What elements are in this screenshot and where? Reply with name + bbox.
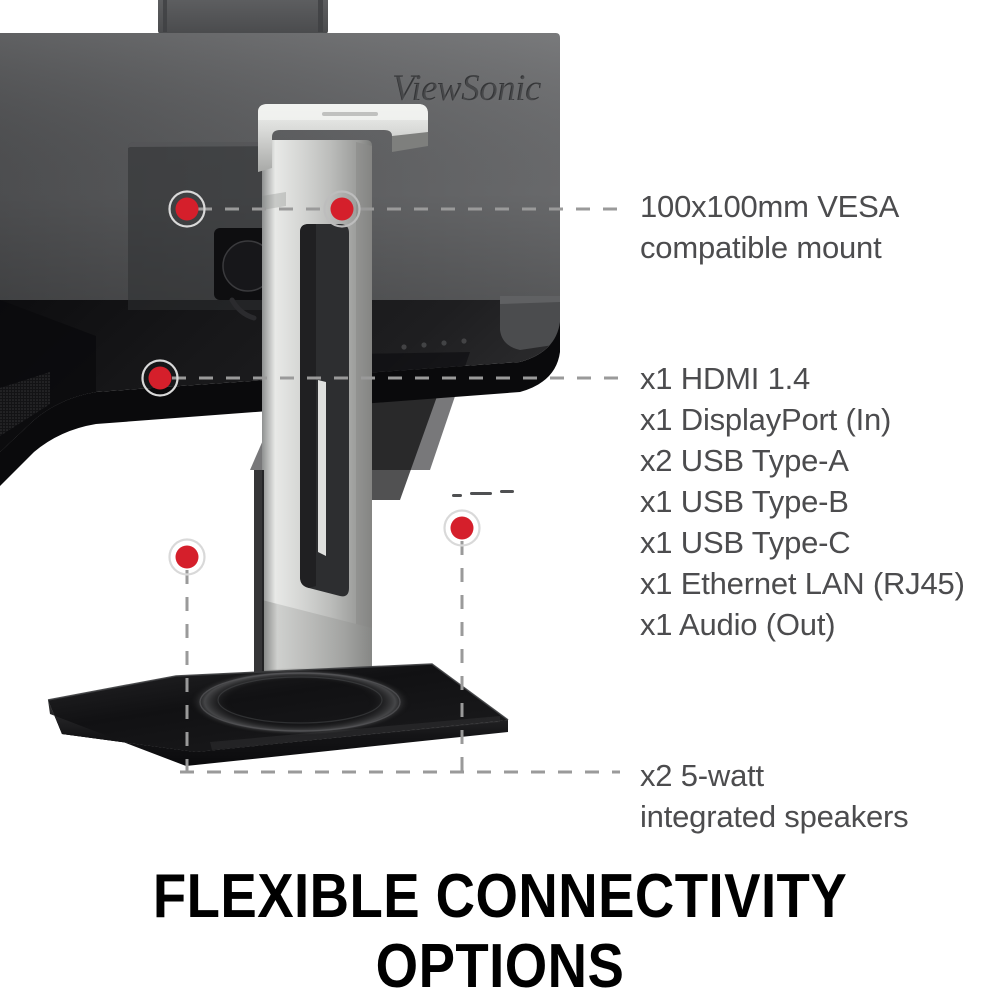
callout-speakers-line-1: x2 5-watt — [640, 755, 908, 796]
callout-speakers-line-2: integrated speakers — [640, 796, 908, 837]
osd-controls-lower — [452, 490, 514, 497]
callout-ports-line-3: x2 USB Type-A — [640, 440, 965, 481]
svg-text:ViewSonic: ViewSonic — [393, 69, 543, 110]
swivel-ring — [188, 668, 412, 736]
webcam-module — [158, 0, 328, 34]
callout-ports-line-7: x1 Audio (Out) — [640, 604, 965, 645]
rear-tab — [500, 296, 560, 350]
product-image: ViewSonic ViewSonic — [0, 0, 620, 845]
page-headline: FLEXIBLE CONNECTIVITY OPTIONS — [60, 862, 940, 1000]
monitor-illustration: ViewSonic ViewSonic — [0, 0, 620, 845]
callout-vesa-line-1: 100x100mm VESA — [640, 186, 899, 227]
callout-ports-line-6: x1 Ethernet LAN (RJ45) — [640, 563, 965, 604]
callout-ports-line-2: x1 DisplayPort (In) — [640, 399, 965, 440]
callout-ports: x1 HDMI 1.4 x1 DisplayPort (In) x2 USB T… — [640, 358, 965, 645]
callout-vesa-line-2: compatible mount — [640, 227, 899, 268]
callout-ports-line-1: x1 HDMI 1.4 — [640, 358, 965, 399]
callout-ports-line-5: x1 USB Type-C — [640, 522, 965, 563]
callout-vesa: 100x100mm VESA compatible mount — [640, 186, 899, 268]
callout-speakers: x2 5-watt integrated speakers — [640, 755, 908, 837]
infographic-page: ViewSonic ViewSonic — [0, 0, 1000, 1000]
callout-ports-line-4: x1 USB Type-B — [640, 481, 965, 522]
